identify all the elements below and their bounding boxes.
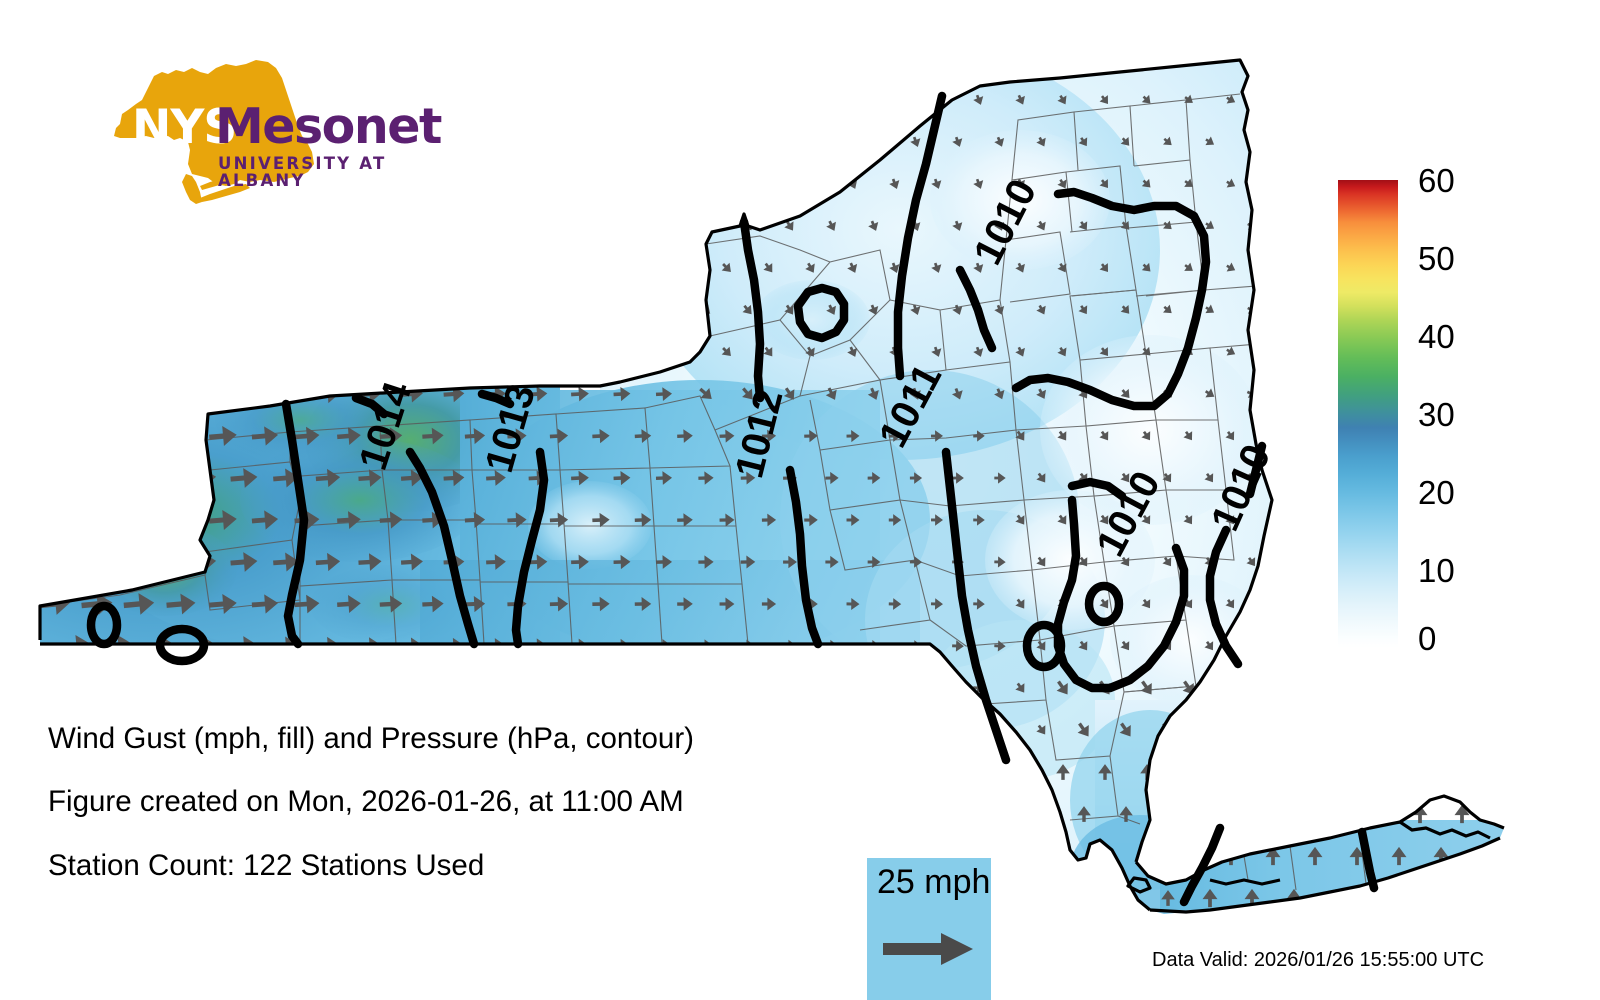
wind-arrow <box>379 174 403 193</box>
wind-arrow <box>1288 220 1300 233</box>
wind-arrow <box>782 134 797 149</box>
wind-arrow <box>571 891 589 906</box>
wind-arrow <box>38 171 71 196</box>
wind-arrow <box>1477 178 1489 190</box>
wind-arrow <box>634 176 652 191</box>
wind-arrow <box>1036 892 1048 904</box>
wind-arrow <box>1351 94 1362 106</box>
wind-arrow <box>1308 597 1323 611</box>
wind-arrow <box>465 764 486 781</box>
wind-arrow <box>1476 681 1491 695</box>
wind-arrow <box>358 889 382 907</box>
wind-arrow <box>1455 471 1470 485</box>
caption-title: Wind Gust (mph, fill) and Pressure (hPa,… <box>48 724 694 754</box>
wind-arrow <box>1394 767 1405 777</box>
wind-arrow <box>613 134 631 150</box>
wind-arrow <box>592 92 611 108</box>
wind-arrow <box>1436 767 1447 777</box>
wind-arrow <box>804 849 818 862</box>
wind-arrow <box>102 466 135 491</box>
wind-arrow <box>740 891 755 905</box>
wind-arrow <box>38 759 71 784</box>
wind-arrow <box>486 301 507 318</box>
wind-arrow <box>80 87 113 112</box>
wind-arrow <box>719 849 734 863</box>
wind-arrow <box>931 682 943 694</box>
wind-arrow <box>1268 767 1279 777</box>
wind-arrow <box>315 132 341 153</box>
wind-arrow <box>973 766 985 778</box>
wind-arrow <box>655 134 672 149</box>
wind-arrow <box>336 90 361 110</box>
wind-arrow <box>1308 681 1323 695</box>
wind-arrow <box>272 299 299 320</box>
wind-arrow <box>486 890 506 906</box>
wind-arrow <box>528 218 548 235</box>
wind-arrow <box>592 681 609 696</box>
wind-arrow <box>1119 890 1133 906</box>
wind-arrow <box>230 383 259 405</box>
wind-arrow <box>1414 304 1425 316</box>
wind-arrow <box>230 887 258 908</box>
wind-arrow <box>1392 681 1407 695</box>
wind-arrow <box>1477 94 1489 106</box>
wind-arrow <box>570 134 589 150</box>
wind-arrow <box>1456 304 1467 316</box>
wind-arrow <box>422 343 444 361</box>
wind-arrow <box>1414 220 1425 232</box>
wind-arrow <box>761 92 776 107</box>
wind-arrow <box>592 176 610 192</box>
wind-arrow <box>741 807 756 820</box>
wind-arrow <box>846 682 859 694</box>
wind-arrow <box>166 760 197 783</box>
wind-arrow <box>1309 346 1321 358</box>
wind-arrow <box>1015 766 1027 778</box>
wind-arrow <box>1266 597 1281 611</box>
wind-arrow <box>1352 767 1363 777</box>
wind-arrow <box>443 133 465 151</box>
wind-arrow <box>187 130 217 153</box>
wind-arrow <box>1329 723 1344 737</box>
wind-arrow <box>825 891 839 904</box>
wind-arrow <box>123 508 155 532</box>
wind-arrow <box>635 765 652 779</box>
wind-arrow <box>592 849 609 864</box>
wind-arrow <box>1288 387 1301 400</box>
wind-arrow <box>443 217 465 235</box>
wind-arrow <box>846 93 860 107</box>
wind-arrow <box>123 172 156 197</box>
wind-arrow <box>208 173 237 196</box>
wind-arrow <box>102 550 135 575</box>
wind-arrow <box>677 261 694 276</box>
wind-arrow <box>38 255 71 280</box>
wind-arrow <box>272 131 299 152</box>
wind-arrow <box>1015 850 1027 862</box>
wind-arrow <box>698 891 714 905</box>
wind-arrow <box>81 676 114 701</box>
wind-arrow <box>677 765 693 779</box>
wind-arrow <box>804 93 819 108</box>
wind-arrow <box>400 132 423 151</box>
wind-arrow <box>144 886 175 910</box>
wind-arrow <box>1287 555 1302 569</box>
wind-arrow <box>101 382 134 407</box>
wind-arrow <box>1413 723 1428 737</box>
wind-arrow <box>465 680 486 697</box>
wind-arrow <box>1310 767 1321 777</box>
wind-arrow <box>401 889 423 906</box>
wind-arrow <box>719 176 735 192</box>
wind-gust-colorbar <box>1338 180 1398 648</box>
wind-arrow <box>550 848 568 863</box>
wind-arrow <box>81 508 114 533</box>
wind-arrow <box>761 176 776 191</box>
wind-arrow <box>123 256 155 281</box>
wind-arrow <box>1371 723 1386 737</box>
wind-arrow <box>804 177 819 192</box>
wind-arrow <box>166 340 197 364</box>
colorbar-tick-40: 40 <box>1418 320 1455 353</box>
wind-arrow <box>59 465 92 490</box>
caption-created: Figure created on Mon, 2026-01-26, at 11… <box>48 787 684 817</box>
wind-arrow <box>336 174 361 194</box>
wind-arrow <box>294 174 321 195</box>
wind-arrow <box>1203 805 1218 823</box>
wind-arrow <box>38 423 71 448</box>
wind-arrow <box>1140 848 1154 864</box>
wind-arrow <box>846 766 860 779</box>
wind-arrow <box>208 677 237 699</box>
wind-arrow <box>634 92 652 108</box>
wind-arrow <box>613 891 630 906</box>
wind-arrow <box>1371 805 1386 823</box>
wind-arrow <box>507 848 526 864</box>
wind-arrow <box>783 724 797 737</box>
wind-arrow <box>1456 220 1467 232</box>
wind-arrow <box>1267 178 1279 191</box>
wind-arrow <box>230 131 259 153</box>
wind-arrow <box>166 424 197 447</box>
wind-arrow <box>464 259 485 277</box>
wind-arrow <box>1182 764 1196 780</box>
wind-arrow <box>677 849 693 863</box>
wind-arrow <box>719 765 734 778</box>
wind-arrow <box>825 135 840 150</box>
wind-arrow <box>1309 178 1321 190</box>
wind-arrow <box>1203 723 1218 737</box>
wind-arrow <box>294 342 320 363</box>
wind-arrow <box>358 132 383 152</box>
wind-arrow <box>187 887 217 909</box>
wind-arrow <box>507 680 527 696</box>
wind-arrow <box>1098 848 1112 864</box>
wind-arrow <box>1455 723 1470 737</box>
wind-arrow <box>698 134 714 150</box>
wind-arrow <box>294 678 320 698</box>
wind-arrow <box>337 762 361 781</box>
wind-arrow <box>1288 136 1300 149</box>
wind-arrow <box>613 302 631 317</box>
wind-arrow <box>81 760 114 785</box>
wind-arrow <box>656 303 673 318</box>
wind-arrow <box>464 343 485 360</box>
wind-arrow <box>698 807 714 821</box>
colorbar-tick-20: 20 <box>1418 476 1455 509</box>
wind-arrow <box>1434 597 1449 611</box>
wind-arrow <box>741 723 756 736</box>
wind-arrow <box>187 298 217 321</box>
wind-arrow <box>1224 681 1239 695</box>
wind-arrow <box>123 676 155 700</box>
wind-arrow <box>888 93 902 107</box>
wind-arrow <box>740 134 756 150</box>
wind-arrow <box>379 679 402 697</box>
wind-arrow <box>846 850 860 863</box>
wind-arrow <box>336 258 361 278</box>
wind-arrow <box>592 344 610 360</box>
right-arrow-icon <box>883 932 975 966</box>
wind-arrow <box>698 723 713 737</box>
wind-arrow <box>1350 681 1365 695</box>
wind-arrow <box>60 886 93 911</box>
wind-arrow <box>1287 723 1302 737</box>
wind-arrow <box>1456 388 1468 400</box>
wind-arrow <box>443 301 465 319</box>
wind-arrow <box>315 888 340 907</box>
wind-arrow <box>485 133 506 151</box>
wind-arrow <box>867 724 880 736</box>
wind-arrow <box>144 382 176 406</box>
wind-arrow <box>273 888 299 908</box>
wind-arrow <box>507 260 527 277</box>
wind-arrow <box>825 808 839 821</box>
wind-arrow <box>38 507 71 532</box>
wind-arrow <box>1308 429 1323 443</box>
wind-arrow <box>1455 889 1470 907</box>
wind-arrow <box>166 508 197 531</box>
wind-arrow <box>1434 681 1449 695</box>
wind-arrow <box>1287 639 1302 653</box>
wind-arrow <box>1266 429 1281 443</box>
wind-arrow <box>528 134 548 151</box>
wind-arrow <box>59 381 92 406</box>
wind-arrow <box>1455 555 1470 569</box>
wind-arrow <box>80 424 113 449</box>
wind-arrow <box>888 766 901 778</box>
wind-arrow <box>677 92 694 107</box>
wind-arrow <box>101 213 134 238</box>
wind-arrow <box>400 301 423 320</box>
wind-arrow <box>762 849 777 862</box>
wind-arrow <box>379 763 402 781</box>
wind-arrow <box>1036 808 1048 820</box>
wind-arrow <box>634 260 651 275</box>
colorbar-tick-0: 0 <box>1418 622 1436 655</box>
wind-arrow <box>1372 136 1383 148</box>
wind-arrow <box>144 130 176 154</box>
wind-arrow <box>1245 723 1260 737</box>
wind-arrow <box>166 256 197 280</box>
wind-arrow <box>1435 94 1446 106</box>
wind-arrow <box>1308 513 1323 527</box>
wind-arrow <box>336 342 361 362</box>
wind-arrow <box>1434 513 1449 527</box>
wind-arrow <box>1287 805 1302 823</box>
wind-arrow <box>783 807 797 820</box>
colorbar-tick-10: 10 <box>1418 554 1455 587</box>
wind-arrow <box>867 135 881 149</box>
wind-arrow <box>592 260 610 276</box>
wind-arrow <box>379 343 403 362</box>
wind-arrow <box>549 260 568 276</box>
wind-arrow <box>1226 767 1237 777</box>
wind-arrow <box>1309 94 1321 106</box>
wind-arrow <box>38 675 71 700</box>
wind-arrow <box>358 300 382 319</box>
wind-arrow <box>1455 639 1470 653</box>
wind-arrow <box>1413 889 1428 907</box>
wind-arrow <box>867 808 880 821</box>
wind-arrow <box>1476 513 1491 527</box>
wind-arrow <box>123 88 156 113</box>
caption-station-count: Station Count: 122 Stations Used <box>48 851 484 881</box>
wind-arrow <box>294 258 320 279</box>
wind-arrow <box>825 724 839 737</box>
wind-arrow <box>101 129 134 154</box>
wind-arrow <box>931 766 944 778</box>
wind-arrow <box>379 90 403 109</box>
wind-arrow <box>719 92 735 108</box>
wind-arrow <box>720 681 735 694</box>
wind-arrow <box>379 258 403 277</box>
wind-arrow <box>144 298 176 322</box>
wind-arrow <box>1267 94 1279 107</box>
wind-arrow <box>1267 262 1279 275</box>
wind-arrow <box>208 257 237 280</box>
wind-arrow <box>1266 681 1281 695</box>
wind-arrow <box>166 676 197 699</box>
wind-arrow <box>1393 94 1404 106</box>
wind-arrow <box>571 218 590 234</box>
wind-arrow <box>272 215 299 236</box>
wind-arrow <box>1056 848 1070 864</box>
wind-arrow <box>507 91 528 108</box>
wind-arrow <box>1077 890 1091 906</box>
wind-arrow <box>208 341 237 364</box>
wind-arrow <box>80 171 113 196</box>
wind-arrow <box>952 808 965 820</box>
wind-arrow <box>677 345 693 359</box>
wind-arrow <box>38 339 71 364</box>
wind-arrow <box>507 764 526 780</box>
wind-arrow <box>80 340 113 365</box>
wind-arrow <box>444 890 465 907</box>
wind-arrow <box>294 762 320 782</box>
wind-arrow <box>1161 806 1175 822</box>
wind-arrow <box>910 724 923 736</box>
wind-arrow <box>550 764 568 779</box>
colorbar-gradient <box>1338 180 1398 648</box>
wind-arrow <box>464 175 486 193</box>
wind-arrow <box>783 891 798 904</box>
wind-arrow <box>677 177 694 192</box>
wind-arrow <box>59 550 92 575</box>
wind-arrow <box>549 176 568 193</box>
wind-arrow <box>422 175 445 194</box>
wind-arrow <box>101 298 134 323</box>
wind-arrow <box>1245 639 1260 653</box>
wind-arrow <box>507 175 527 192</box>
wind-arrow <box>677 681 693 695</box>
wind-arrow <box>528 302 548 319</box>
wind-arrow <box>635 849 652 863</box>
wind-arrow <box>762 682 776 695</box>
wind-arrow <box>422 763 444 780</box>
wind-arrow <box>59 213 92 238</box>
wind-arrow <box>400 217 423 236</box>
wind-arrow <box>571 302 590 318</box>
wind-arrow <box>1309 262 1321 274</box>
wind-arrow <box>187 214 217 237</box>
wind-arrow <box>1477 262 1489 274</box>
wind-arrow <box>80 255 113 280</box>
wind-arrow <box>464 91 486 109</box>
wind-arrow <box>1414 136 1425 148</box>
wind-arrow <box>1478 767 1489 777</box>
wind-arrow <box>59 129 92 154</box>
wind-arrow <box>209 761 238 783</box>
wind-arrow <box>994 892 1006 904</box>
wind-arrow <box>549 344 568 360</box>
reference-vector-legend: 25 mph <box>867 858 991 1000</box>
wind-arrow <box>294 89 321 110</box>
wind-arrow <box>208 89 238 112</box>
wind-arrow <box>952 724 964 736</box>
wind-arrow <box>165 88 196 112</box>
wind-arrow <box>144 214 176 238</box>
wind-arrow <box>422 679 444 697</box>
wind-arrow <box>634 345 651 360</box>
wind-arrow <box>1330 136 1341 148</box>
wind-arrow <box>144 466 176 490</box>
wind-arrow <box>592 765 609 779</box>
wind-arrow <box>251 257 279 279</box>
wind-arrow <box>144 550 176 574</box>
wind-arrow <box>1267 346 1279 359</box>
colorbar-tick-30: 30 <box>1418 398 1455 431</box>
colorbar-tick-60: 60 <box>1418 164 1455 197</box>
wind-arrow <box>251 341 279 363</box>
wind-arrow <box>486 217 507 234</box>
wind-arrow <box>1288 304 1300 317</box>
wind-arrow <box>529 890 548 905</box>
wind-arrow <box>251 173 279 195</box>
wind-arrow <box>123 340 155 365</box>
reference-vector-label: 25 mph <box>877 865 990 899</box>
wind-arrow <box>507 344 527 361</box>
wind-arrow <box>251 677 278 698</box>
wind-arrow <box>251 89 279 111</box>
wind-arrow <box>1182 848 1196 864</box>
wind-arrow <box>550 680 568 695</box>
wind-arrow <box>910 808 923 820</box>
wind-arrow <box>1476 429 1491 443</box>
wind-arrow <box>230 215 259 237</box>
wind-arrow <box>613 218 631 234</box>
wind-arrow <box>994 808 1006 820</box>
